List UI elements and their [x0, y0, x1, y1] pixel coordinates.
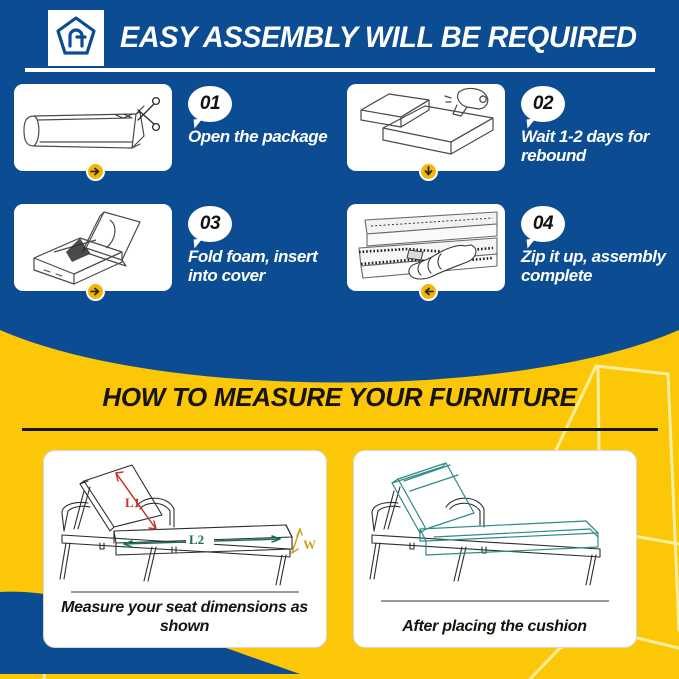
arrow-down-icon: [423, 166, 434, 177]
arrow-right-icon: [90, 286, 101, 297]
folded-foam-into-cover-icon: [14, 204, 172, 291]
measure-card-dimensions-art: L1 L2 W: [44, 451, 326, 591]
dimension-label-l1: L1: [125, 495, 140, 510]
step-04-illustration-card: [347, 204, 505, 291]
step-02-label: Wait 1-2 days for rebound: [521, 127, 679, 166]
step-03: 03 Fold foam, insert into cover: [0, 204, 339, 291]
step-04-number: 04: [533, 213, 553, 235]
chaise-lounge-dimensions-diagram-icon: L1 L2 W: [44, 451, 327, 591]
measure-card-cushion-art: [354, 451, 636, 600]
rolled-package-with-scissors-icon: [14, 84, 172, 171]
arrow-right-icon: [90, 166, 101, 177]
header-row: EASY ASSEMBLY WILL BE REQUIRED: [48, 10, 658, 66]
step-01: 01 Open the package: [0, 84, 339, 171]
step-04: 04 Zip it up, assembly complete: [339, 204, 679, 291]
step-row-1: 01 Open the package: [0, 84, 679, 171]
header-divider: [25, 68, 655, 72]
measure-card-dimensions: L1 L2 W: [43, 450, 327, 648]
measure-card-cushion-caption: After placing the cushion: [354, 602, 636, 647]
step-03-text: 03 Fold foam, insert into cover: [188, 204, 339, 286]
measure-cards: L1 L2 W: [0, 450, 679, 648]
step-01-text: 01 Open the package: [188, 84, 339, 146]
step-04-number-badge: 04: [521, 206, 565, 242]
page-title: EASY ASSEMBLY WILL BE REQUIRED: [120, 21, 637, 55]
step-02-text: 02 Wait 1-2 days for rebound: [521, 84, 679, 166]
dimension-label-l2: L2: [189, 532, 204, 547]
measure-section-divider: [22, 428, 658, 431]
step-03-arrow-badge: [86, 282, 105, 301]
step-04-arrow-badge: [419, 282, 438, 301]
infographic-page: EASY ASSEMBLY WILL BE REQUIRED: [0, 0, 679, 679]
chaise-lounge-with-cushion-icon: [354, 451, 637, 591]
step-02-arrow-badge: [419, 162, 438, 181]
dimension-label-w: W: [303, 537, 316, 552]
step-04-text: 04 Zip it up, assembly complete: [521, 204, 679, 286]
step-04-label: Zip it up, assembly complete: [521, 247, 679, 286]
step-02-illustration-card: [347, 84, 505, 171]
hand-zipping-cushion-icon: [347, 204, 505, 291]
step-02-number: 02: [533, 93, 553, 115]
step-01-label: Open the package: [188, 127, 339, 146]
measure-card-cushion: After placing the cushion: [353, 450, 637, 648]
step-01-illustration-card: [14, 84, 172, 171]
step-01-number-badge: 01: [188, 86, 232, 122]
step-03-illustration-card: [14, 204, 172, 291]
arrow-left-icon: [423, 286, 434, 297]
step-02: 02 Wait 1-2 days for rebound: [339, 84, 679, 171]
measure-section-title: HOW TO MEASURE YOUR FURNITURE: [0, 382, 679, 413]
step-03-number-badge: 03: [188, 206, 232, 242]
step-row-2: 03 Fold foam, insert into cover: [0, 204, 679, 291]
step-03-label: Fold foam, insert into cover: [188, 247, 339, 286]
brand-logo: [48, 10, 104, 66]
step-01-arrow-badge: [86, 162, 105, 181]
house-pentagon-logo-icon: [54, 14, 98, 63]
foam-cushions-with-hairdryer-icon: [347, 84, 505, 171]
step-03-number: 03: [200, 213, 220, 235]
step-02-number-badge: 02: [521, 86, 565, 122]
step-01-number: 01: [200, 93, 220, 115]
assembly-steps: 01 Open the package: [0, 84, 679, 291]
measure-card-dimensions-caption: Measure your seat dimensions as shown: [44, 593, 326, 647]
